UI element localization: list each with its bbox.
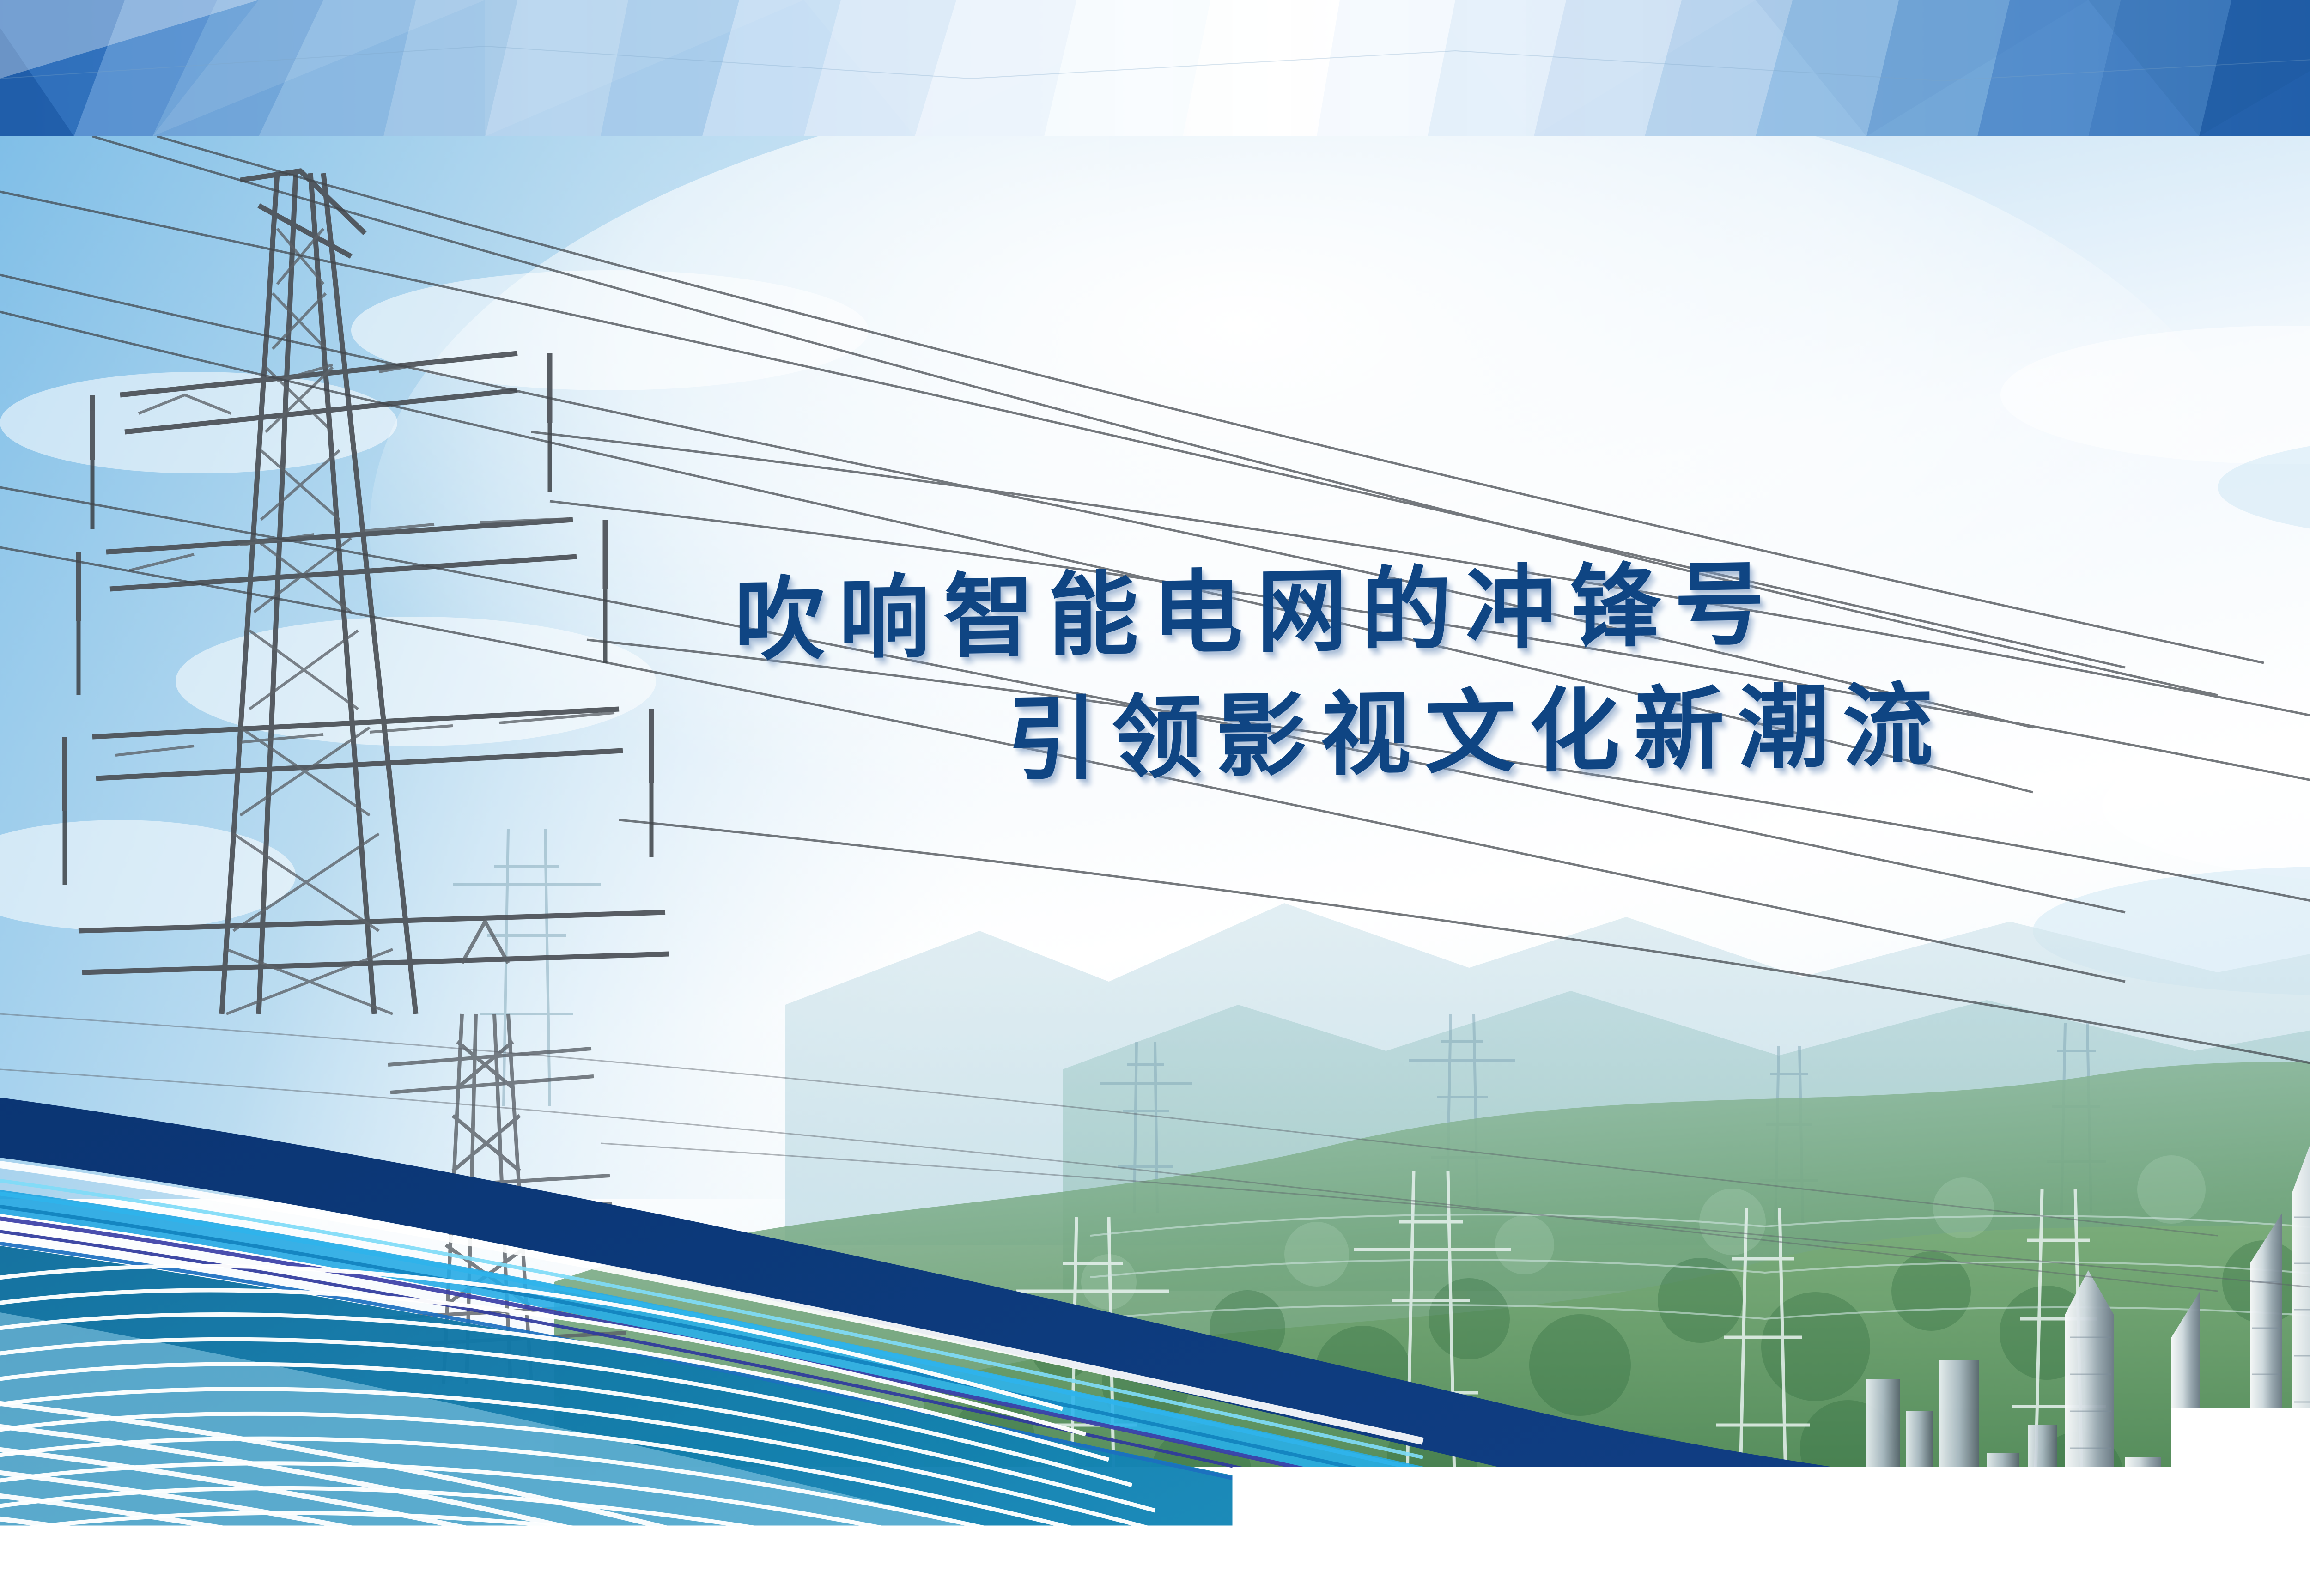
poster-canvas: 吹响智能电网的冲锋号 引领影视文化新潮流 [0,0,2310,1596]
low-poly-svg [0,0,2310,136]
background-scene [0,136,2310,1596]
top-geometric-band [0,0,2310,136]
scene-svg [0,136,2310,1596]
